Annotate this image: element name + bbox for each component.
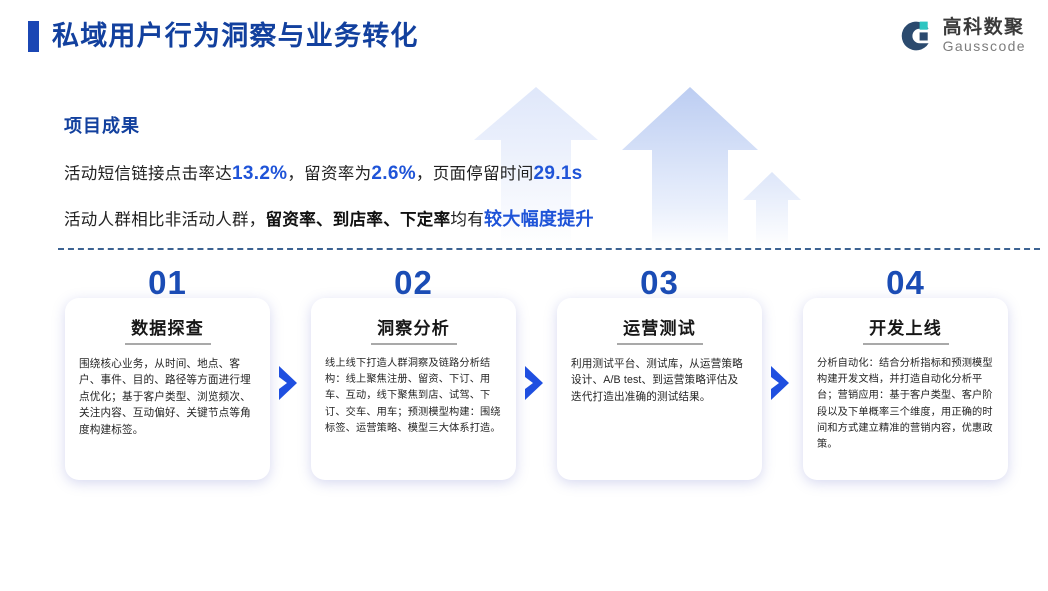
step-card-03[interactable]: 03 运营测试 利用测试平台、测试库，从运营策略设计、A/B test、到运营策… [557, 298, 762, 480]
step-rule-04 [863, 343, 949, 345]
brand-logo: 高科数聚 Gausscode [898, 17, 1026, 54]
brand-name-cn: 高科数聚 [943, 17, 1026, 38]
section-divider [58, 248, 1040, 250]
step-number-03: 03 [557, 266, 762, 300]
step-card-04[interactable]: 04 开发上线 分析自动化：结合分析指标和预测模型构建开发文档，并打造自动化分析… [803, 298, 1008, 480]
results-line-1: 活动短信链接点击率达13.2%，留资率为2.6%，页面停留时间29.1s [64, 160, 764, 185]
step-title-01: 数据探查 [65, 314, 270, 339]
brand-logo-text: 高科数聚 Gausscode [943, 17, 1026, 54]
gausscode-logo-icon [898, 18, 934, 54]
step-number-01: 01 [65, 266, 270, 300]
results-l1-v2: 2.6% [371, 163, 416, 184]
step-title-04: 开发上线 [803, 314, 1008, 339]
slide-root: 私域用户行为洞察与业务转化 高科数聚 Gausscode 项目成果 活动短信链接… [0, 0, 1048, 591]
results-line-2: 活动人群相比非活动人群，留资率、到店率、下定率均有较大幅度提升 [64, 205, 764, 231]
results-l1-t3: ，页面停留时间 [416, 165, 534, 183]
brand-name-en: Gausscode [943, 38, 1026, 54]
step-body-01: 围绕核心业务，从时间、地点、客户、事件、目的、路径等方面进行埋点优化；基于客户类… [79, 356, 256, 438]
results-l1-t1: 活动短信链接点击率达 [64, 165, 232, 183]
step-title-02: 洞察分析 [311, 314, 516, 339]
header: 私域用户行为洞察与业务转化 高科数聚 Gausscode [0, 0, 1048, 78]
step-rule-03 [617, 343, 703, 345]
results-l1-v3: 29.1s [534, 163, 583, 184]
step-body-03: 利用测试平台、测试库，从运营策略设计、A/B test、到运营策略评估及迭代打造… [571, 356, 748, 405]
step-number-04: 04 [803, 266, 1008, 300]
step-rule-02 [371, 343, 457, 345]
results-l2-b1: 留资率、到店率、下定率 [266, 211, 451, 229]
page-title-text: 私域用户行为洞察与业务转化 [52, 20, 419, 52]
steps-row: 01 数据探查 围绕核心业务，从时间、地点、客户、事件、目的、路径等方面进行埋点… [0, 268, 1048, 528]
title-accent-bar [28, 21, 39, 52]
chevron-right-icon-1 [276, 364, 300, 402]
results-l2-v1: 较大幅度提升 [484, 209, 594, 229]
results-l2-t1: 活动人群相比非活动人群， [64, 211, 266, 229]
step-body-04: 分析自动化：结合分析指标和预测模型构建开发文档，并打造自动化分析平台；营销应用：… [817, 356, 994, 453]
chevron-right-icon-3 [768, 364, 792, 402]
results-title: 项目成果 [64, 112, 764, 138]
results-block: 项目成果 活动短信链接点击率达13.2%，留资率为2.6%，页面停留时间29.1… [64, 112, 764, 231]
results-l2-t2: 均有 [450, 211, 484, 229]
step-rule-01 [125, 343, 211, 345]
results-l1-t2: ，留资率为 [287, 165, 371, 183]
step-body-02: 线上线下打造人群洞察及链路分析结构：线上聚焦注册、留资、下订、用车、互动，线下聚… [325, 356, 502, 437]
page-title: 私域用户行为洞察与业务转化 [28, 20, 419, 52]
step-number-02: 02 [311, 266, 516, 300]
step-card-02[interactable]: 02 洞察分析 线上线下打造人群洞察及链路分析结构：线上聚焦注册、留资、下订、用… [311, 298, 516, 480]
chevron-right-icon-2 [522, 364, 546, 402]
step-title-03: 运营测试 [557, 314, 762, 339]
results-l1-v1: 13.2% [232, 163, 287, 184]
step-card-01[interactable]: 01 数据探查 围绕核心业务，从时间、地点、客户、事件、目的、路径等方面进行埋点… [65, 298, 270, 480]
